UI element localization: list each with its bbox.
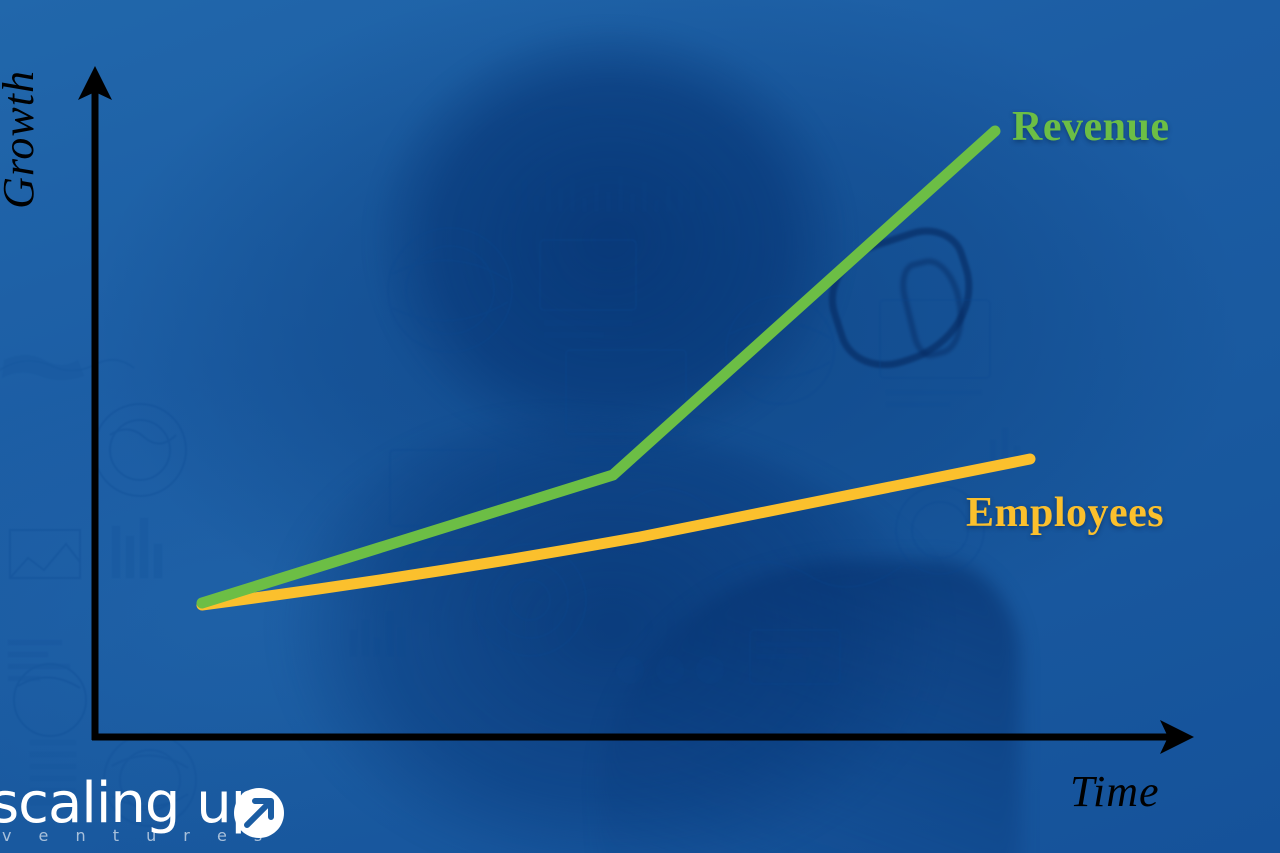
x-axis-title: Time — [1070, 770, 1160, 814]
series-label-employees: Employees — [966, 492, 1164, 534]
arrow-up-right-circle-icon — [232, 786, 286, 840]
series-line-employees — [202, 459, 1030, 605]
brand-wordmark: scaling up — [0, 776, 265, 832]
y-axis-title: Growth — [0, 70, 41, 290]
growth-chart-canvas: Revenue Employees Growth Time scaling up… — [0, 0, 1280, 853]
series-label-revenue: Revenue — [1012, 106, 1169, 148]
series-line-revenue — [202, 131, 995, 603]
brand-logo[interactable]: scaling up v e n t u r e s — [0, 772, 300, 852]
